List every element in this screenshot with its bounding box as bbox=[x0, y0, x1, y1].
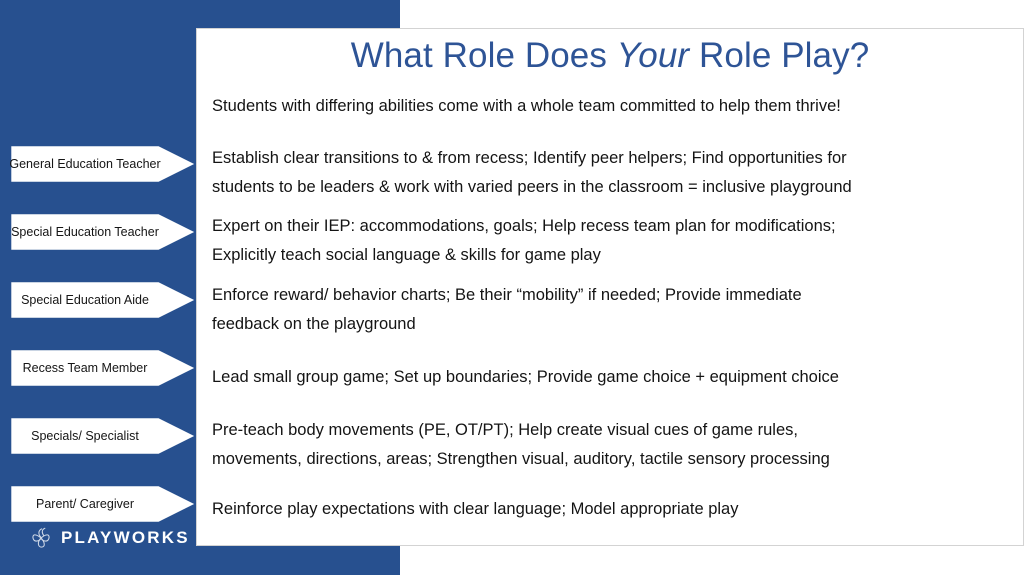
arrow-label: Special Education Aide bbox=[10, 281, 160, 319]
role-arrow-specials-specialist[interactable]: Specials/ Specialist bbox=[10, 417, 196, 455]
role-description-line: feedback on the playground bbox=[212, 310, 1012, 339]
title-part-prefix: What Role Does bbox=[351, 36, 617, 75]
intro-text: Students with differing abilities come w… bbox=[212, 92, 1012, 121]
role-arrow-special-education-aide[interactable]: Special Education Aide bbox=[10, 281, 196, 319]
role-description-line: Expert on their IEP: accommodations, goa… bbox=[212, 212, 1012, 241]
role-description-3: Lead small group game; Set up boundaries… bbox=[212, 363, 1012, 392]
playworks-knot-icon bbox=[28, 525, 54, 551]
intro-line: Students with differing abilities come w… bbox=[212, 92, 1012, 121]
role-description-line: Explicitly teach social language & skill… bbox=[212, 241, 1012, 270]
title-part-suffix: Role Play? bbox=[689, 36, 869, 75]
role-description-1: Expert on their IEP: accommodations, goa… bbox=[212, 212, 1012, 270]
role-description-line: Establish clear transitions to & from re… bbox=[212, 144, 1012, 173]
role-description-line: students to be leaders & work with varie… bbox=[212, 173, 1012, 202]
role-description-line: Lead small group game; Set up boundaries… bbox=[212, 363, 1012, 392]
role-description-line: Enforce reward/ behavior charts; Be thei… bbox=[212, 281, 1012, 310]
role-description-0: Establish clear transitions to & from re… bbox=[212, 144, 1012, 202]
title-part-emphasis: Your bbox=[617, 36, 689, 75]
role-description-2: Enforce reward/ behavior charts; Be thei… bbox=[212, 281, 1012, 339]
role-description-line: movements, directions, areas; Strengthen… bbox=[212, 445, 1012, 474]
playworks-logo-text: PLAYWORKS bbox=[61, 528, 190, 548]
page-title: What Role Does Your Role Play? bbox=[196, 34, 1024, 78]
role-description-4: Pre-teach body movements (PE, OT/PT); He… bbox=[212, 416, 1012, 474]
arrow-label: General Education Teacher bbox=[10, 145, 160, 183]
playworks-logo: PLAYWORKS bbox=[28, 524, 190, 552]
arrow-label: Specials/ Specialist bbox=[10, 417, 160, 455]
arrow-label: Special Education Teacher bbox=[10, 213, 160, 251]
arrow-label: Recess Team Member bbox=[10, 349, 160, 387]
arrow-label: Parent/ Caregiver bbox=[10, 485, 160, 523]
role-description-line: Pre-teach body movements (PE, OT/PT); He… bbox=[212, 416, 1012, 445]
slide-canvas: What Role Does Your Role Play? Students … bbox=[0, 0, 1024, 575]
role-arrow-parent-caregiver[interactable]: Parent/ Caregiver bbox=[10, 485, 196, 523]
role-arrow-general-education-teacher[interactable]: General Education Teacher bbox=[10, 145, 196, 183]
role-description-line: Reinforce play expectations with clear l… bbox=[212, 495, 1012, 524]
role-arrow-special-education-teacher[interactable]: Special Education Teacher bbox=[10, 213, 196, 251]
role-arrow-recess-team-member[interactable]: Recess Team Member bbox=[10, 349, 196, 387]
role-description-5: Reinforce play expectations with clear l… bbox=[212, 495, 1012, 524]
